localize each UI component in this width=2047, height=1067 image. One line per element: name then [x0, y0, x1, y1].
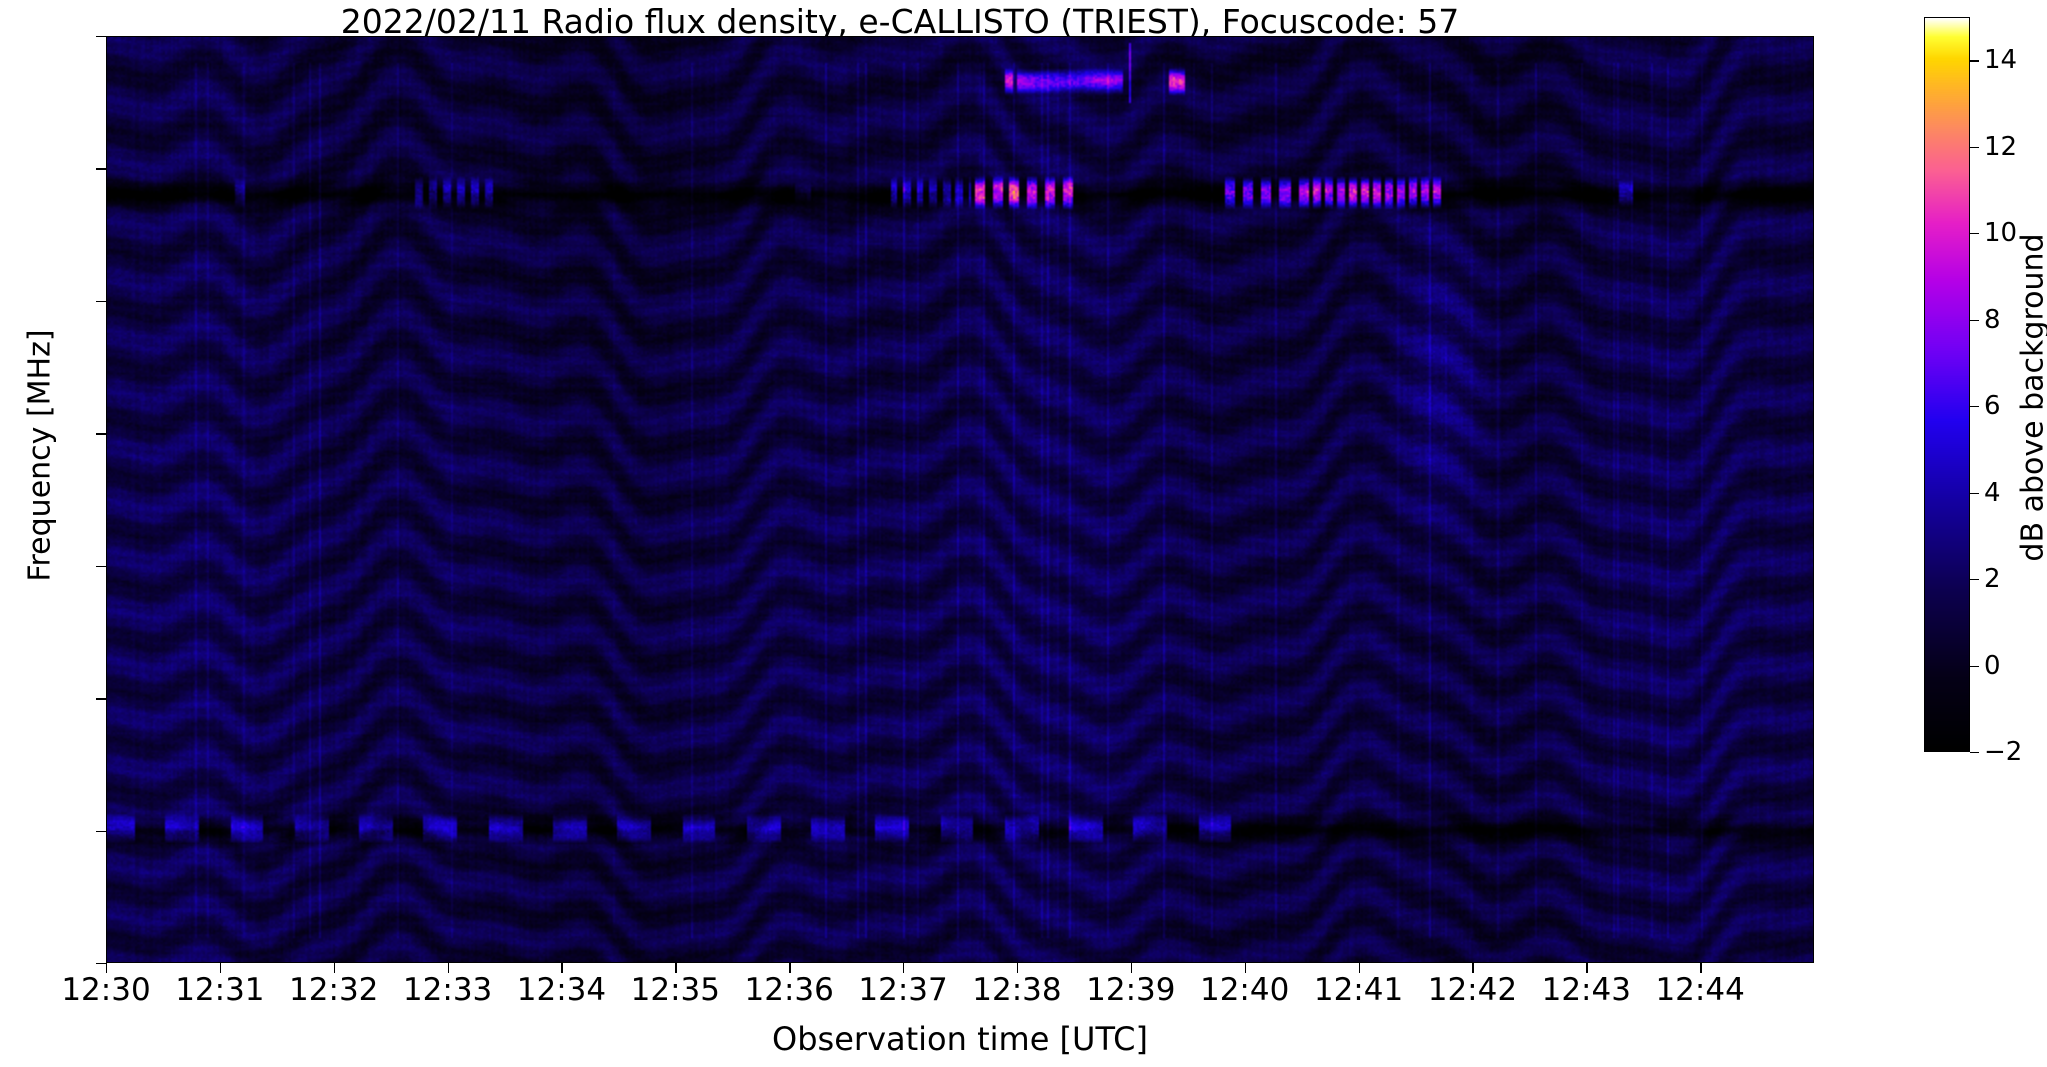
x-tick-label-12-31: 12:31: [175, 972, 264, 1008]
colorbar-tick-mark-2: [1970, 579, 1979, 580]
colorbar-tick-mark-neg2: [1970, 752, 1979, 753]
colorbar-tick-label-0: 0: [1984, 651, 2001, 681]
x-tick-mark-12-44: [1700, 963, 1701, 973]
x-tick-mark-12-41: [1359, 963, 1360, 973]
y-tick-mark-50: [96, 831, 106, 832]
x-tick-label-12-33: 12:33: [403, 972, 492, 1008]
colorbar-tick-label-2: 2: [1984, 564, 2001, 594]
colorbar-tick-label-4: 4: [1984, 478, 2001, 508]
colorbar-tick-label-8: 8: [1984, 305, 2001, 335]
x-tick-label-12-30: 12:30: [61, 972, 150, 1008]
x-tick-label-12-40: 12:40: [1200, 972, 1289, 1008]
x-tick-mark-12-34: [561, 963, 562, 973]
x-tick-mark-12-42: [1472, 963, 1473, 973]
spectrogram-axes[interactable]: [106, 36, 1814, 963]
x-tick-label-12-38: 12:38: [972, 972, 1061, 1008]
colorbar-label: dB above background: [2016, 18, 2047, 778]
y-tick-mark-70: [96, 301, 106, 302]
spectrogram-image[interactable]: [107, 37, 1814, 963]
x-tick-label-12-44: 12:44: [1655, 972, 1744, 1008]
y-tick-mark-75: [96, 168, 106, 169]
x-tick-label-12-41: 12:41: [1314, 972, 1403, 1008]
x-tick-label-12-34: 12:34: [517, 972, 606, 1008]
colorbar-tick-label-10: 10: [1984, 218, 2017, 248]
y-tick-mark-45: [96, 963, 106, 964]
x-tick-mark-12-30: [106, 963, 107, 973]
colorbar-tick-mark-14: [1970, 60, 1979, 61]
x-tick-mark-12-32: [334, 963, 335, 973]
colorbar-tick-label-14: 14: [1984, 45, 2017, 75]
x-tick-mark-12-43: [1586, 963, 1587, 973]
y-tick-mark-55: [96, 698, 106, 699]
colorbar-tick-mark-6: [1970, 406, 1979, 407]
colorbar[interactable]: [1924, 17, 1970, 752]
y-tick-mark-60: [96, 566, 106, 567]
figure-canvas: 2022/02/11 Radio flux density, e-CALLIST…: [0, 0, 2047, 1067]
x-tick-label-12-42: 12:42: [1428, 972, 1517, 1008]
x-tick-mark-12-40: [1245, 963, 1246, 973]
x-tick-mark-12-31: [220, 963, 221, 973]
x-tick-mark-12-33: [448, 963, 449, 973]
x-tick-mark-12-38: [1017, 963, 1018, 973]
x-tick-mark-12-35: [675, 963, 676, 973]
colorbar-tick-mark-10: [1970, 233, 1979, 234]
colorbar-tick-label-12: 12: [1984, 132, 2017, 162]
x-axis-label: Observation time [UTC]: [106, 1020, 1814, 1058]
x-tick-label-12-43: 12:43: [1542, 972, 1631, 1008]
x-tick-label-12-36: 12:36: [745, 972, 834, 1008]
x-tick-label-12-35: 12:35: [631, 972, 720, 1008]
x-tick-label-12-39: 12:39: [1086, 972, 1175, 1008]
x-tick-mark-12-39: [1131, 963, 1132, 973]
colorbar-tick-mark-8: [1970, 320, 1979, 321]
colorbar-gradient: [1924, 17, 1970, 752]
y-axis-label: Frequency [MHz]: [23, 56, 58, 856]
y-tick-mark-80: [96, 36, 106, 37]
x-tick-label-12-37: 12:37: [858, 972, 947, 1008]
colorbar-tick-mark-0: [1970, 666, 1979, 667]
x-tick-label-12-32: 12:32: [289, 972, 378, 1008]
colorbar-tick-mark-4: [1970, 493, 1979, 494]
y-tick-mark-65: [96, 433, 106, 434]
x-tick-mark-12-36: [789, 963, 790, 973]
x-tick-mark-12-37: [903, 963, 904, 973]
colorbar-tick-label-6: 6: [1984, 391, 2001, 421]
colorbar-tick-mark-12: [1970, 147, 1979, 148]
